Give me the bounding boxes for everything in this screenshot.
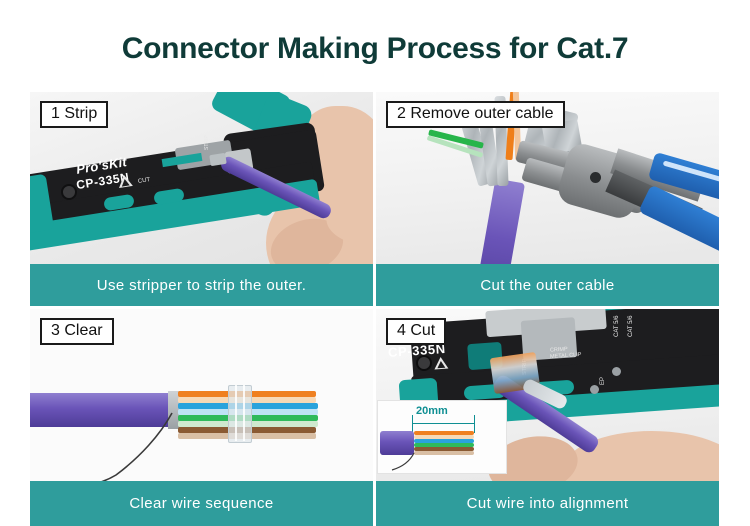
warning-triangle-icon	[434, 357, 449, 370]
pliers-pivot-screw	[590, 172, 601, 183]
step-1-badge: 1 Strip	[40, 101, 108, 128]
step-2-caption: Cut the outer cable	[376, 264, 719, 306]
screw-icon	[590, 385, 599, 394]
step-panel-1[interactable]: Pro'sKit CP-335N CUT STRIP 1 Strip Use s…	[30, 92, 373, 306]
tool-mark-cat56-b: CAT 5/6	[628, 316, 634, 337]
step-panel-3[interactable]: 3 Clear Clear wire sequence	[30, 309, 373, 526]
tool-mark-ep: EP	[600, 377, 606, 385]
screw-icon	[612, 367, 621, 376]
infographic-page: Connector Making Process for Cat.7	[0, 0, 750, 526]
inset-measurement-label: 20mm	[416, 405, 448, 417]
step-4-badge: 4 Cut	[386, 318, 446, 345]
step-panel-4[interactable]: Pro'sKit CP-335N CRIMP METAL CLIP STRIP …	[376, 309, 719, 526]
inset-dimension-line	[412, 423, 474, 424]
screw-icon	[61, 184, 77, 200]
measurement-inset: 20mm	[378, 401, 506, 473]
step-3-badge: 3 Clear	[40, 318, 114, 345]
tool-mark-cat56-a: CAT 5/6	[614, 316, 620, 337]
page-title: Connector Making Process for Cat.7	[0, 32, 750, 66]
step-panel-2[interactable]: 2 Remove outer cable Cut the outer cable	[376, 92, 719, 306]
warning-triangle-icon	[117, 174, 133, 188]
load-bar	[228, 385, 252, 443]
step-3-caption: Clear wire sequence	[30, 481, 373, 526]
step-2-badge: 2 Remove outer cable	[386, 101, 565, 128]
tool-mark-strip: STRIP	[204, 135, 210, 150]
step-1-caption: Use stripper to strip the outer.	[30, 264, 373, 306]
inset-drain-wire-icon	[388, 451, 448, 473]
inset-dimension-cap-right	[474, 415, 475, 433]
load-bar-rib	[243, 385, 245, 441]
step-4-caption: Cut wire into alignment	[376, 481, 719, 526]
load-bar-rib	[235, 385, 237, 441]
steps-grid: Pro'sKit CP-335N CUT STRIP 1 Strip Use s…	[30, 92, 722, 526]
